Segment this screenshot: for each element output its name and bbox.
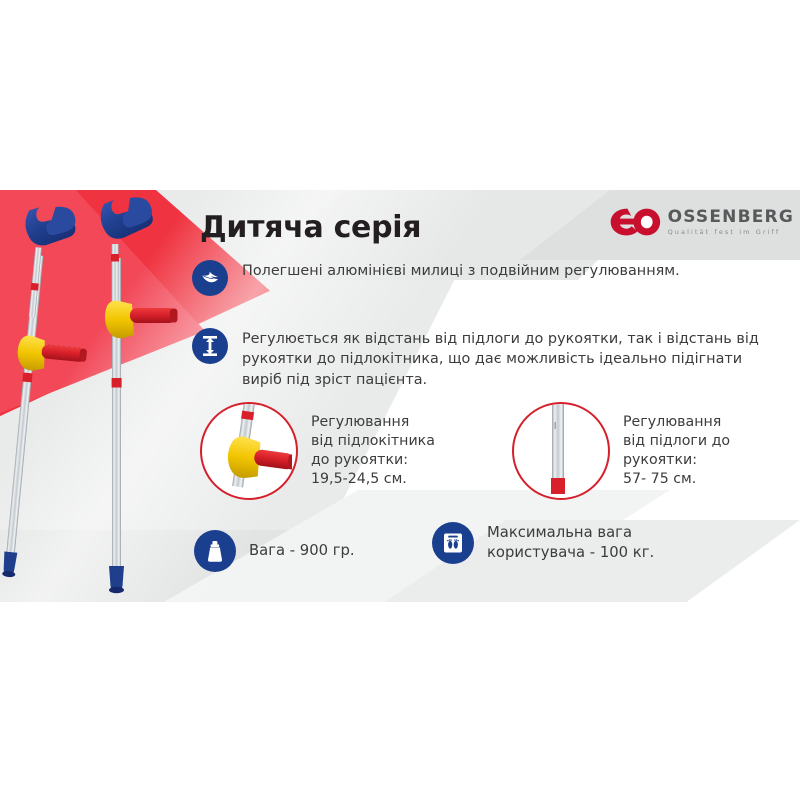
detail-text: Регулювання від підлоги до рукоятки: 57-… — [623, 413, 730, 489]
product-photo-crutches — [0, 190, 200, 602]
detail-line: до рукоятки: — [311, 452, 408, 468]
banner-content: Дитяча серія OSSENBERG Qualität fest im … — [186, 190, 800, 602]
feather-icon — [192, 260, 228, 296]
crutch-back — [0, 203, 101, 582]
crutch-shaft-closeup-photo — [512, 402, 610, 500]
product-banner: Дитяча серія OSSENBERG Qualität fest im … — [0, 190, 800, 602]
feature-item: Полегшені алюмінієві милиці з подвійним … — [192, 260, 692, 296]
feature-text: Полегшені алюмінієві милиці з подвійним … — [242, 260, 680, 281]
brand-name: OSSENBERG — [668, 209, 794, 226]
crutch-front — [101, 197, 178, 593]
detail-block: Регулювання від підлоги до рукоятки: 57-… — [512, 402, 730, 500]
detail-line: Регулювання — [623, 414, 721, 430]
stat-max-user-weight: Максимальна вага користувача - 100 кг. — [432, 522, 654, 564]
detail-line: від підлоги до — [623, 433, 730, 449]
detail-text: Регулювання від підлокітника до рукоятки… — [311, 413, 435, 489]
stat-line: користувача - 100 кг. — [487, 544, 654, 561]
stat-text: Вага - 900 гр. — [249, 541, 355, 561]
brand-logo: OSSENBERG Qualität fest im Griff — [609, 205, 794, 239]
stat-line: Максимальна вага — [487, 524, 632, 541]
weight-kettlebell-icon — [194, 530, 236, 572]
feature-text: Регулюється як відстань від підлоги до р… — [242, 328, 772, 390]
bathroom-scale-feet-icon — [432, 522, 474, 564]
crutch-handle-closeup-photo — [200, 402, 298, 500]
detail-line: Регулювання — [311, 414, 409, 430]
detail-line: рукоятки: — [623, 452, 697, 468]
vertical-resize-arrow-icon — [192, 328, 228, 364]
page-root: Дитяча серія OSSENBERG Qualität fest im … — [0, 0, 800, 800]
eo-monogram-icon — [609, 205, 661, 239]
stat-weight: Вага - 900 гр. — [194, 530, 355, 572]
detail-line: від підлокітника — [311, 433, 435, 449]
stat-text: Максимальна вага користувача - 100 кг. — [487, 523, 654, 563]
feature-item: Регулюється як відстань від підлоги до р… — [192, 328, 772, 390]
detail-line: 57- 75 см. — [623, 471, 696, 487]
detail-line: 19,5-24,5 см. — [311, 471, 407, 487]
brand-tagline: Qualität fest im Griff — [668, 229, 794, 236]
detail-block: Регулювання від підлокітника до рукоятки… — [200, 402, 435, 500]
page-title: Дитяча серія — [200, 210, 421, 245]
